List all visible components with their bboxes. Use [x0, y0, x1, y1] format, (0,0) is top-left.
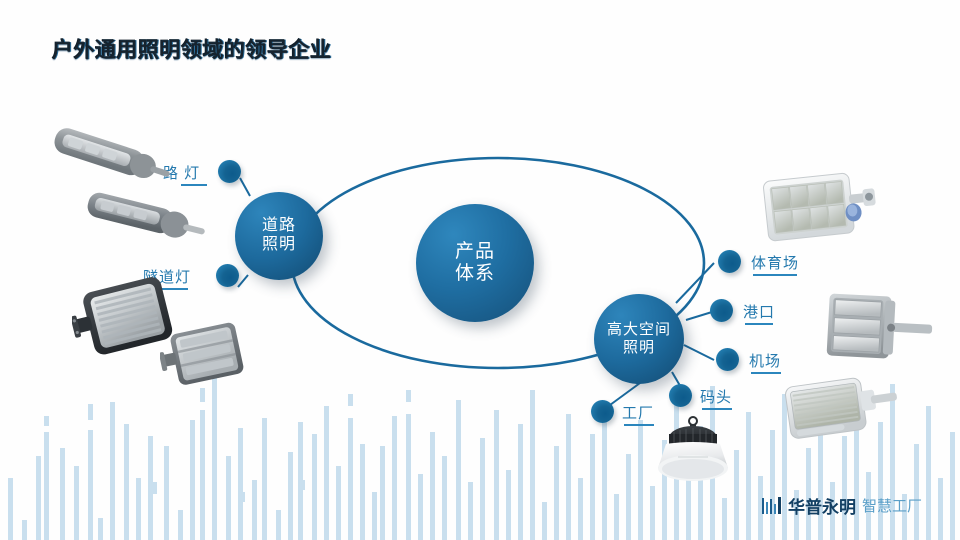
leaf-label-airport[interactable]: 机场 [749, 350, 781, 374]
brand-logo: 华普永明 智慧工厂 [762, 493, 922, 518]
leaf-label-airport-text: 机场 [749, 353, 781, 370]
leaf-underline [702, 408, 732, 410]
leaf-label-wharf-text: 码头 [700, 389, 732, 406]
hub-high-line1: 高大空间 [607, 321, 671, 339]
leaf-dot-stadium[interactable] [718, 250, 741, 273]
hub-center-line2: 体系 [455, 263, 495, 285]
hub-product-system[interactable]: 产品 体系 [416, 204, 534, 322]
product-street-lamp-lower [80, 190, 208, 248]
product-street-lamp-upper [44, 126, 174, 188]
hub-road-line1: 道路 [262, 217, 296, 236]
product-port-flood-grey [818, 288, 938, 370]
hub-high-space-lighting[interactable]: 高大空间 照明 [594, 294, 684, 384]
hub-center-line1: 产品 [455, 241, 495, 263]
logo-brand-suffix: 智慧工厂 [862, 495, 922, 516]
leaf-dot-tunnel-light[interactable] [216, 264, 239, 287]
leaf-label-stadium[interactable]: 体育场 [751, 252, 799, 276]
product-highbay-ufo-light [648, 412, 738, 492]
leaf-label-stadium-text: 体育场 [751, 255, 799, 272]
leaf-underline [753, 274, 797, 276]
leaf-dot-airport[interactable] [716, 348, 739, 371]
leaf-label-port-text: 港口 [743, 304, 775, 321]
leaf-label-wharf[interactable]: 码头 [700, 386, 732, 410]
hub-high-line2: 照明 [623, 339, 655, 357]
leaf-dot-port[interactable] [710, 299, 733, 322]
leaf-underline [745, 323, 773, 325]
page-title: 户外通用照明领域的领导企业 [52, 34, 332, 64]
slide-canvas: 户外通用照明领域的领导企业 [0, 0, 960, 540]
product-airport-flood-white [784, 372, 900, 446]
hub-road-lighting[interactable]: 道路 照明 [235, 192, 323, 280]
leaf-underline [181, 184, 207, 186]
leaf-dot-street-light[interactable] [218, 160, 241, 183]
leaf-label-port[interactable]: 港口 [743, 301, 775, 325]
leaf-dot-wharf[interactable] [669, 384, 692, 407]
leaf-underline [751, 372, 781, 374]
leaf-dot-factory[interactable] [591, 400, 614, 423]
bar-chart-mark-icon [762, 496, 782, 516]
product-stadium-flood-white [760, 168, 878, 250]
product-tunnel-light-grey [160, 318, 252, 390]
hub-road-line2: 照明 [262, 236, 296, 255]
logo-brand-name: 华普永明 [788, 493, 856, 518]
